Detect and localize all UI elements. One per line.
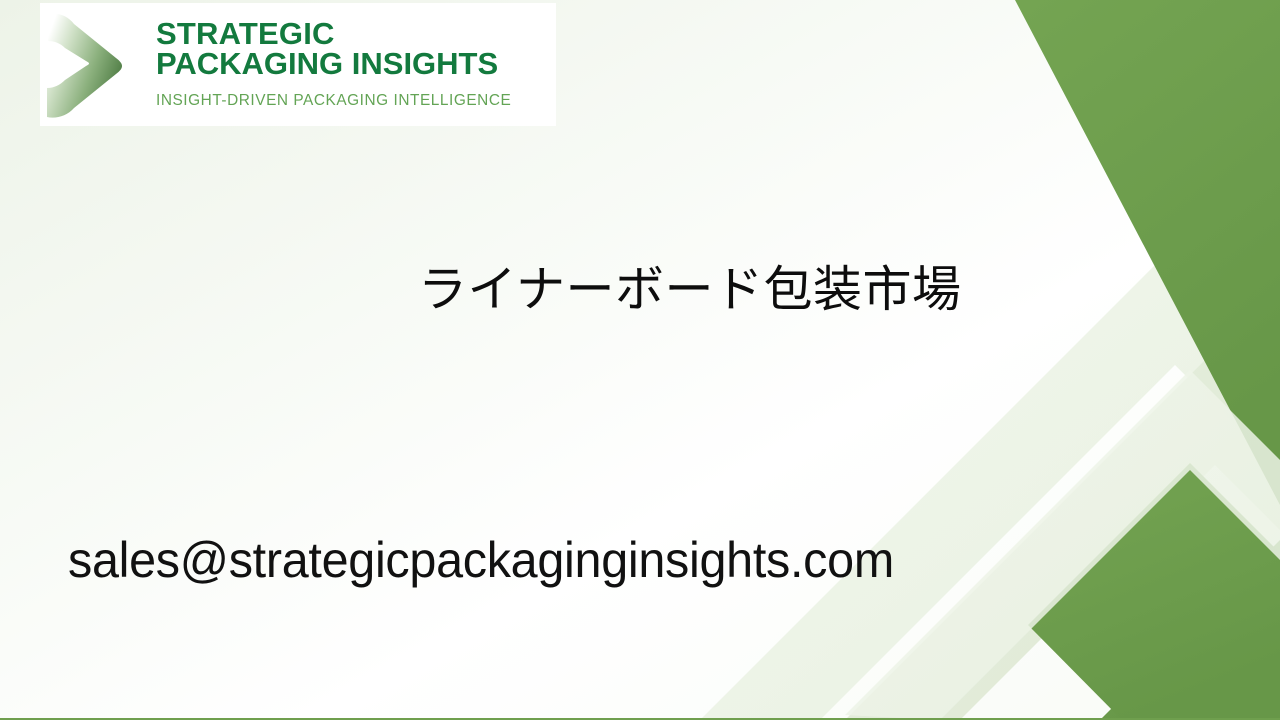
page-title: ライナーボード包装市場 (418, 250, 962, 321)
contact-email[interactable]: sales@strategicpackaginginsights.com (68, 531, 894, 589)
brand-logo: STRATEGIC PACKAGING INSIGHTS INSIGHT-DRI… (40, 3, 556, 126)
title-slide: STRATEGIC PACKAGING INSIGHTS INSIGHT-DRI… (0, 0, 1280, 720)
logo-tagline: INSIGHT-DRIVEN PACKAGING INTELLIGENCE (156, 92, 511, 110)
logo-line-1: STRATEGIC (156, 19, 511, 49)
chevron-mark-icon (44, 10, 134, 120)
logo-line-2: PACKAGING INSIGHTS (156, 49, 511, 79)
logo-wordmark: STRATEGIC PACKAGING INSIGHTS INSIGHT-DRI… (156, 19, 511, 111)
